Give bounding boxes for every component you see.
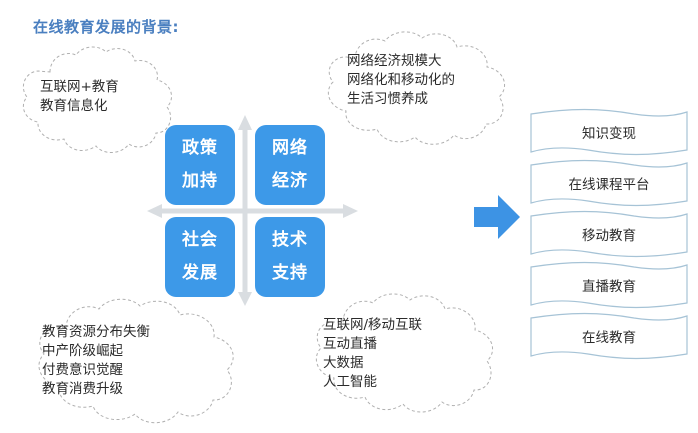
cloud-bottom-right-text: 互联网/移动互联 互动直播 大数据 人工智能: [323, 316, 422, 392]
cloud-bottom-right: 互联网/移动互联 互动直播 大数据 人工智能: [295, 290, 500, 420]
quadrant-box-policy[interactable]: 政策 加持: [165, 125, 235, 205]
cloud-top-left-text: 互联网+教育 教育信息化: [40, 78, 119, 116]
quadrant-box-tech-support[interactable]: 技术 支持: [255, 217, 325, 297]
quadrant-box-social-development[interactable]: 社会 发展: [165, 217, 235, 297]
cloud-line: 教育信息化: [40, 97, 119, 116]
quadrant-box-line2: 加持: [182, 173, 218, 190]
cloud-line: 教育消费升级: [42, 380, 150, 399]
right-arrow-icon: [472, 193, 522, 241]
cloud-line: 大数据: [323, 354, 422, 373]
list-item-label: 在线教育: [530, 311, 688, 361]
cloud-line: 网络化和移动化的: [347, 71, 455, 90]
page-title: 在线教育发展的背景:: [33, 16, 179, 37]
cloud-bottom-left: 教育资源分布失衡 中产阶级崛起 付费意识觉醒 教育消费升级: [10, 296, 255, 428]
quadrant-matrix: 政策 加持 网络 经济 社会 发展 技术 支持: [145, 112, 360, 307]
list-item[interactable]: 在线教育: [530, 311, 688, 361]
cloud-line: 中产阶级崛起: [42, 342, 150, 361]
list-item-label: 知识变现: [530, 107, 688, 157]
cloud-line: 互联网/移动互联: [323, 316, 422, 335]
list-item[interactable]: 直播教育: [530, 260, 688, 310]
list-item[interactable]: 知识变现: [530, 107, 688, 157]
cloud-line: 互动直播: [323, 335, 422, 354]
list-item[interactable]: 在线课程平台: [530, 158, 688, 208]
quadrant-box-line1: 政策: [182, 140, 218, 157]
quadrant-box-line2: 经济: [272, 173, 308, 190]
cloud-line: 网络经济规模大: [347, 52, 455, 71]
quadrant-box-line1: 技术: [272, 232, 308, 249]
quadrant-box-line1: 社会: [182, 232, 218, 249]
cloud-bottom-left-text: 教育资源分布失衡 中产阶级崛起 付费意识觉醒 教育消费升级: [42, 323, 150, 399]
cloud-line: 付费意识觉醒: [42, 361, 150, 380]
cloud-line: 生活习惯养成: [347, 90, 455, 109]
list-item-label: 直播教育: [530, 260, 688, 310]
cloud-line: 教育资源分布失衡: [42, 323, 150, 342]
list-item-label: 在线课程平台: [530, 158, 688, 208]
cloud-line: 人工智能: [323, 373, 422, 392]
cloud-line: 互联网+教育: [40, 78, 119, 97]
quadrant-box-line2: 发展: [182, 265, 218, 282]
list-item[interactable]: 移动教育: [530, 209, 688, 259]
outcome-list: 知识变现 在线课程平台 移动教育 直播教育 在线教育: [530, 107, 688, 362]
quadrant-box-line2: 支持: [272, 265, 308, 282]
infographic-canvas: 在线教育发展的背景: 互联网+教育 教育信息化 网络经济规模大 网络化和移动化的…: [0, 0, 698, 433]
quadrant-box-network-economy[interactable]: 网络 经济: [255, 125, 325, 205]
quadrant-box-line1: 网络: [272, 140, 308, 157]
cloud-top-right-text: 网络经济规模大 网络化和移动化的 生活习惯养成: [347, 52, 455, 109]
list-item-label: 移动教育: [530, 209, 688, 259]
